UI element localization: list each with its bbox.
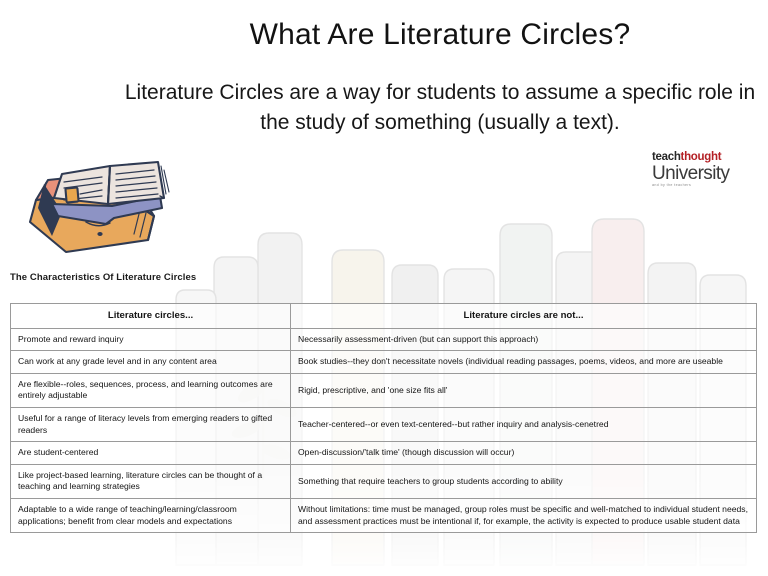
cell-are: Adaptable to a wide range of teaching/le… bbox=[11, 498, 291, 532]
cell-are-not: Book studies--they don't necessitate nov… bbox=[291, 351, 757, 374]
column-header-are: Literature circles... bbox=[11, 304, 291, 329]
cell-are: Are student-centered bbox=[11, 442, 291, 465]
cell-are-not: Without limitations: time must be manage… bbox=[291, 498, 757, 532]
cell-are: Are flexible--roles, sequences, process,… bbox=[11, 373, 291, 407]
cell-are-not: Necessarily assessment-driven (but can s… bbox=[291, 328, 757, 351]
cell-are: Useful for a range of literacy levels fr… bbox=[11, 407, 291, 441]
page-title: What Are Literature Circles? bbox=[130, 18, 750, 52]
stack-of-books-icon bbox=[22, 160, 187, 260]
table-row: Like project-based learning, literature … bbox=[11, 464, 757, 498]
cell-are-not: Something that require teachers to group… bbox=[291, 464, 757, 498]
column-header-are-not: Literature circles are not... bbox=[291, 304, 757, 329]
table-row: Are student-centered Open-discussion/'ta… bbox=[11, 442, 757, 465]
characteristics-table: Literature circles... Literature circles… bbox=[10, 303, 757, 533]
table-caption: The Characteristics Of Literature Circle… bbox=[10, 272, 196, 283]
cell-are-not: Open-discussion/'talk time' (though disc… bbox=[291, 442, 757, 465]
logo-thought-text: thought bbox=[681, 151, 722, 163]
logo-tagline: and by the teachers bbox=[652, 184, 748, 188]
cell-are-not: Teacher-centered--or even text-centered-… bbox=[291, 407, 757, 441]
logo-university-text: University bbox=[652, 164, 748, 183]
table-row: Promote and reward inquiry Necessarily a… bbox=[11, 328, 757, 351]
cell-are-not: Rigid, prescriptive, and 'one size fits … bbox=[291, 373, 757, 407]
table-row: Adaptable to a wide range of teaching/le… bbox=[11, 498, 757, 532]
cell-are: Promote and reward inquiry bbox=[11, 328, 291, 351]
table-row: Useful for a range of literacy levels fr… bbox=[11, 407, 757, 441]
table-row: Are flexible--roles, sequences, process,… bbox=[11, 373, 757, 407]
table-header-row: Literature circles... Literature circles… bbox=[11, 304, 757, 329]
logo-wordmark-top: teachthought bbox=[652, 152, 748, 164]
teachthought-university-logo: teachthought University and by the teach… bbox=[652, 152, 748, 187]
cell-are: Like project-based learning, literature … bbox=[11, 464, 291, 498]
logo-teach-text: teach bbox=[652, 151, 681, 163]
slide-subtitle: Literature Circles are a way for student… bbox=[120, 78, 760, 138]
cell-are: Can work at any grade level and in any c… bbox=[11, 351, 291, 374]
table-row: Can work at any grade level and in any c… bbox=[11, 351, 757, 374]
